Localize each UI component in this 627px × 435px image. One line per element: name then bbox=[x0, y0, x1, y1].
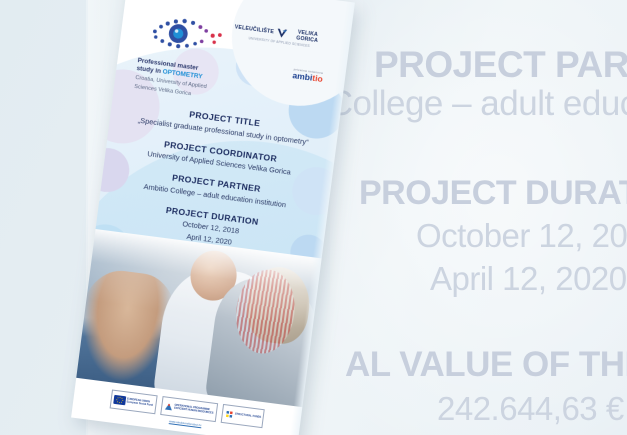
structural-funds-logo: STRUCTURAL FUNDS bbox=[220, 404, 265, 428]
partner-logo-name-b: tio bbox=[312, 73, 324, 84]
eu-flag-icon bbox=[113, 395, 126, 405]
ghost-line-project-duration: PROJECT DURATION bbox=[359, 176, 627, 210]
screenshot-canvas: PROJECT PARTNER tio College – adult educ… bbox=[0, 0, 627, 435]
structural-funds-icon bbox=[224, 409, 234, 420]
arrow-people-icon bbox=[163, 401, 173, 412]
programme-logo: Professional master study in OPTOMETRY C… bbox=[134, 7, 264, 106]
eu-logo-text: EUROPEAN UNION European Social Fund bbox=[126, 398, 153, 407]
v-mark-icon bbox=[275, 27, 288, 40]
eye-dots-icon bbox=[143, 8, 233, 59]
banner-photograph bbox=[76, 229, 321, 407]
structural-funds-url[interactable]: www.strukturnifondovi.hr bbox=[169, 419, 202, 427]
structural-funds-text: STRUCTURAL FUNDS bbox=[235, 414, 261, 420]
operational-programme-text: OPERATIONAL PROGRAMME EFFICIENT HUMAN RE… bbox=[174, 404, 214, 415]
ghost-line-duration-start: October 12, 2018 bbox=[416, 219, 627, 252]
ghost-line-total-value: AL VALUE OF THE PROJECT bbox=[345, 347, 627, 382]
ghost-line-project-partner: PROJECT PARTNER bbox=[374, 46, 627, 83]
ghost-line-total-amount: 242.644,63 € bbox=[437, 392, 624, 425]
ghost-line-duration-end: April 12, 2020 bbox=[430, 262, 627, 295]
eu-logo: EUROPEAN UNION European Social Fund bbox=[109, 389, 157, 414]
